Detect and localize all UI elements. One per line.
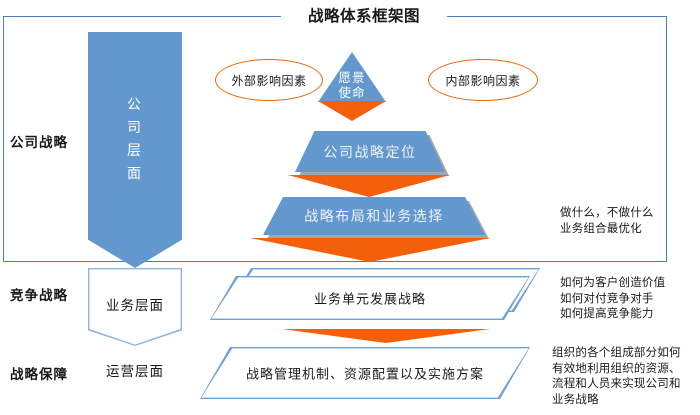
business-unit-strategy-label: 业务单元发展战略 xyxy=(210,289,530,308)
note-corporate-line-1: 做什么，不做什么 xyxy=(560,205,654,221)
note-competitive-strategy: 如何为客户创造价值 如何对付竞争对手 如何提高竞争能力 xyxy=(560,275,665,322)
level-banner-operations: 运营层面 xyxy=(88,348,182,394)
row-label-strategy-guarantee: 战略保障 xyxy=(10,363,68,383)
note-strategy-guarantee: 组织的各个组成部分如何有效地利用组织的资源、流程和人员来实现公司和业务战略 xyxy=(552,345,684,407)
operations-strategy-shape: 战略管理机制、资源配置以及实施方案 xyxy=(200,347,530,399)
row-label-competitive-strategy: 竞争战略 xyxy=(10,284,68,304)
note-competitive-line-3: 如何提高竞争能力 xyxy=(560,306,665,322)
level-banner-business-label: 业务层面 xyxy=(88,294,182,314)
external-factors-ellipse: 外部影响因素 xyxy=(215,59,323,101)
note-corporate-line-2: 业务组合最优化 xyxy=(560,221,654,237)
corporate-char-3: 层 xyxy=(88,140,182,163)
diagram-canvas: 战略体系框架图 公司战略 竞争战略 战略保障 公 司 层 面 业务层面 运营层面… xyxy=(0,0,700,415)
operations-strategy-label: 战略管理机制、资源配置以及实施方案 xyxy=(200,364,530,383)
strategic-layout-label: 战略布局和业务选择 xyxy=(263,206,485,226)
internal-factors-ellipse: 内部影响因素 xyxy=(428,59,538,101)
corporate-char-4: 面 xyxy=(88,163,182,186)
level-banner-operations-label: 运营层面 xyxy=(88,360,182,380)
note-competitive-line-2: 如何对付竞争对手 xyxy=(560,291,665,307)
corporate-char-1: 公 xyxy=(88,94,182,117)
business-unit-strategy-shape: 业务单元发展战略 xyxy=(210,276,530,320)
corporate-char-2: 司 xyxy=(88,117,182,140)
level-banner-corporate-label: 公 司 层 面 xyxy=(88,94,182,186)
level-banner-business: 业务层面 xyxy=(88,268,182,346)
strategic-layout-shape: 战略布局和业务选择 xyxy=(263,197,485,235)
note-competitive-line-1: 如何为客户创造价值 xyxy=(560,275,665,291)
row-label-corporate-strategy: 公司战略 xyxy=(10,131,68,151)
corporate-positioning-shape: 公司战略定位 xyxy=(295,131,445,172)
level-banner-corporate: 公 司 层 面 xyxy=(88,32,182,268)
flow-arrow-business-unit-to-operations xyxy=(282,329,490,343)
vision-line-2: 使命 xyxy=(318,85,386,100)
note-corporate-strategy: 做什么，不做什么 业务组合最优化 xyxy=(560,205,654,236)
corporate-positioning-label: 公司战略定位 xyxy=(295,142,445,162)
page-title: 战略体系框架图 xyxy=(281,4,447,26)
